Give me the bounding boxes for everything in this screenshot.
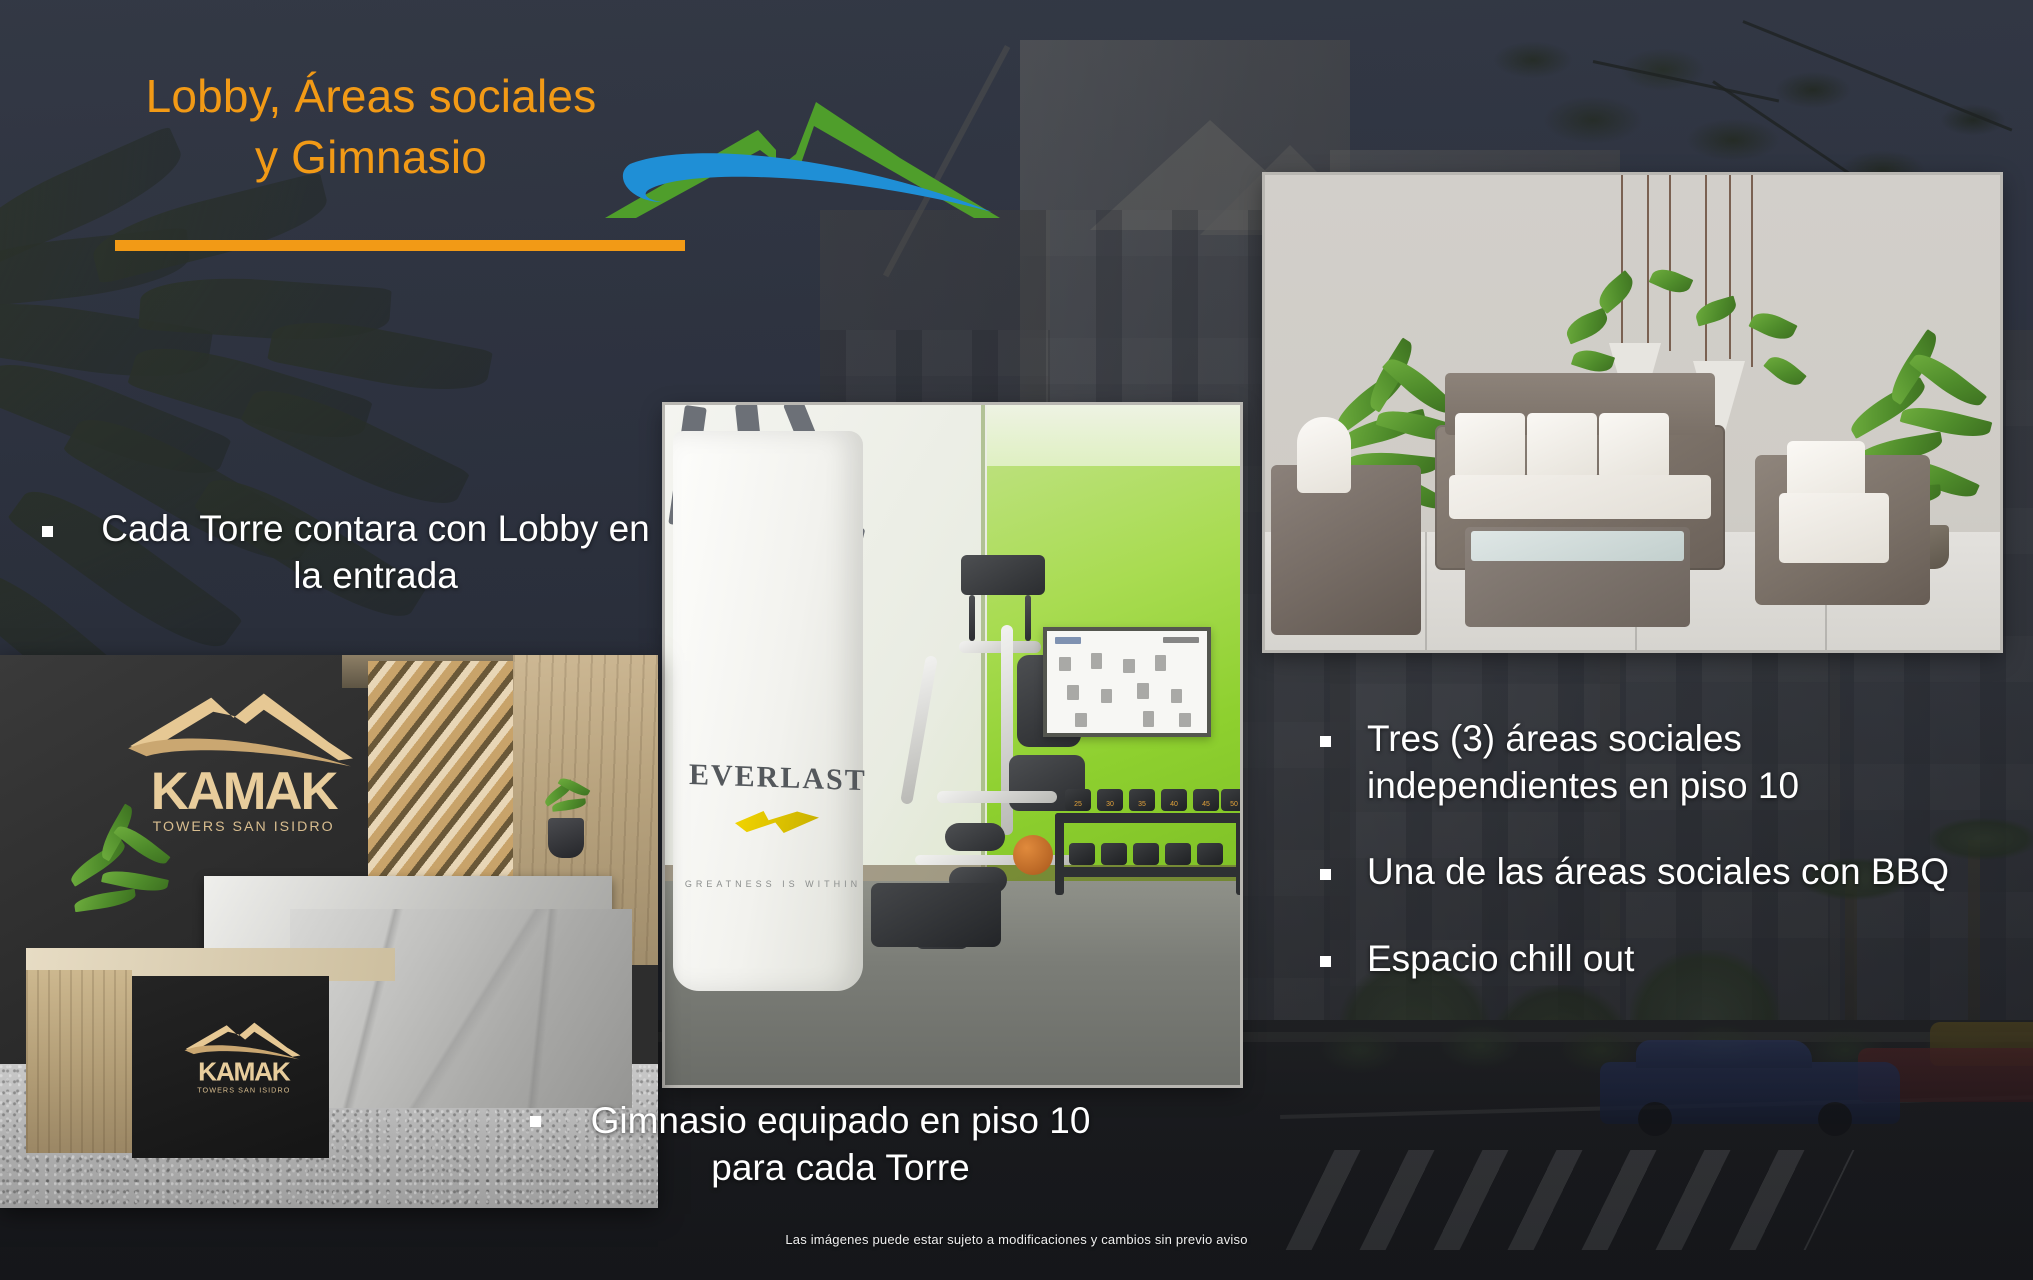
planter-cord [1669, 175, 1671, 351]
poster-figure [1171, 689, 1182, 703]
planter-cord [1647, 175, 1649, 343]
kamak-wall-logo: KAMAK TOWERS SAN ISIDRO [112, 688, 375, 843]
dumbbell: 30 [1097, 789, 1123, 811]
bullet-text: Una de las áreas sociales con BBQ [1367, 849, 1949, 896]
bullet-text: Tres (3) áreas sociales independientes e… [1367, 716, 1980, 809]
glass-tabletop [1471, 531, 1684, 561]
vase [548, 818, 584, 858]
dumbbell-weight: 35 [1129, 801, 1155, 808]
vine-leaf [1593, 270, 1639, 314]
dumbbell-weight: 45 [1193, 801, 1219, 808]
sofa-seat-cushion [1449, 475, 1711, 519]
lounge-coffee-table [1465, 527, 1690, 627]
dumbbell: 25 [1065, 789, 1091, 811]
everlast-brand-text: EVERLAST [689, 758, 859, 798]
machine-cable [1025, 595, 1031, 641]
list-item: Espacio chill out [1320, 936, 1980, 983]
vine-leaf [1748, 306, 1797, 345]
reception-desk-wood-side [26, 970, 131, 1152]
bottom-bullet-list: Gimnasio equipado en piso 10 para cada T… [530, 1098, 1110, 1211]
title-line-1: Lobby, Áreas sociales [66, 66, 676, 127]
dumbbell-weight: 30 [1097, 801, 1123, 808]
plant-leaf [73, 889, 136, 912]
lobby-vase-with-plant [540, 804, 599, 876]
poster-figure [1101, 689, 1112, 703]
vine-leaf [1763, 350, 1806, 391]
poster-logo-right [1163, 637, 1199, 643]
exercise-chart-poster [1043, 627, 1211, 737]
rack-upright [1236, 813, 1240, 895]
list-item: Cada Torre contara con Lobby en la entra… [42, 506, 662, 599]
floor-seam [1425, 532, 1427, 650]
right-bullet-list: Tres (3) áreas sociales independientes e… [1320, 716, 1980, 1002]
sofa-pillow [1527, 413, 1597, 479]
poster-figure [1155, 655, 1166, 671]
armchair-cushion [1779, 493, 1889, 563]
sofa-pillow [1455, 413, 1525, 479]
reception-desk-marble-front [290, 909, 632, 1108]
bullet-square-icon [1320, 956, 1331, 967]
kamak-desk-logo: KAMAK TOWERS SAN ISIDRO [178, 1009, 310, 1109]
lounge-side-chair [1271, 465, 1421, 635]
machine-lat-bar [959, 641, 1041, 653]
planter-cord [1621, 175, 1623, 347]
everlast-logo-icon [735, 811, 819, 833]
logo-svg [600, 92, 1010, 222]
machine-top-frame [961, 555, 1045, 595]
dumbbell: 50 [1221, 789, 1240, 811]
dumbbell: 35 [1129, 789, 1155, 811]
bullet-square-icon [530, 1116, 541, 1127]
dumbbell-weight: 40 [1161, 801, 1187, 808]
bullet-text: Espacio chill out [1367, 936, 1634, 983]
dumbbell [1133, 843, 1159, 865]
lounge-armchair [1755, 455, 1930, 605]
logo-brand-tagline: TOWERS SAN ISIDRO [197, 1085, 290, 1094]
sofa-pillow [1599, 413, 1669, 479]
dumbbell-weight: 25 [1065, 801, 1091, 808]
presentation-slide: Lobby, Áreas sociales y Gimnasio [0, 0, 2033, 1280]
dumbbell-rack: 25 30 35 40 45 50 [1055, 775, 1240, 915]
machine-cable [969, 595, 975, 641]
poster-figure [1091, 653, 1102, 669]
poster-figure [1179, 713, 1191, 727]
lobby-potted-plant [66, 821, 211, 943]
machine-leg-pad [945, 823, 1005, 851]
title-line-2: y Gimnasio [66, 127, 676, 188]
page-title: Lobby, Áreas sociales y Gimnasio [66, 66, 676, 187]
logo-brand-name: KAMAK [198, 1056, 291, 1086]
list-item: Tres (3) áreas sociales independientes e… [1320, 716, 1980, 809]
gym-scene: EVERLAST GREATNESS IS WITHIN [665, 405, 1240, 1085]
everlast-punching-bag: EVERLAST GREATNESS IS WITHIN [673, 431, 863, 991]
poster-figure [1075, 713, 1087, 727]
list-item: Una de las áreas sociales con BBQ [1320, 849, 1980, 896]
bullet-text: Cada Torre contara con Lobby en la entra… [89, 506, 662, 599]
dumbbell [1165, 843, 1191, 865]
poster-figure [1143, 711, 1154, 727]
poster-logo-left [1055, 637, 1081, 644]
machine-leg-bar [937, 791, 1057, 803]
rack-upright [1055, 813, 1064, 895]
kamak-mountain-swoosh-logo [600, 92, 1010, 222]
planter-cord [1751, 175, 1753, 367]
dumbbell [1101, 843, 1127, 865]
vine-leaf [1562, 308, 1611, 345]
vine-leaf [1693, 296, 1739, 327]
rack-shelf [1055, 867, 1240, 877]
logo-brand-name: KAMAK [151, 762, 339, 821]
gym-bench [871, 883, 1001, 947]
poster-figure [1137, 683, 1149, 699]
poster-figure [1123, 659, 1135, 673]
kamak-logo-svg: KAMAK TOWERS SAN ISIDRO [112, 688, 375, 843]
poster-figure [1059, 657, 1071, 671]
kamak-desk-logo-svg: KAMAK TOWERS SAN ISIDRO [178, 1009, 310, 1109]
dumbbell [1197, 843, 1223, 865]
rack-shelf [1055, 813, 1240, 823]
social-area-lounge-image [1265, 175, 2000, 650]
planter-cord [1729, 175, 1731, 359]
poster-figure [1067, 685, 1079, 700]
bullet-square-icon [1320, 869, 1331, 880]
disclaimer-text: Las imágenes puede estar sujeto a modifi… [0, 1232, 2033, 1247]
bullet-text: Gimnasio equipado en piso 10 para cada T… [571, 1098, 1110, 1191]
bullet-square-icon [42, 526, 53, 537]
gym-image: EVERLAST GREATNESS IS WITHIN [665, 405, 1240, 1085]
lounge-scene [1265, 175, 2000, 650]
title-accent-bar [115, 240, 685, 251]
list-item: Gimnasio equipado en piso 10 para cada T… [530, 1098, 1110, 1191]
medicine-ball [1013, 835, 1053, 875]
planter-cord [1705, 175, 1707, 363]
side-chair-pillow [1297, 417, 1351, 493]
vine-leaf [1649, 264, 1694, 299]
bullet-square-icon [1320, 736, 1331, 747]
dumbbell-weight: 50 [1221, 801, 1240, 808]
dumbbell: 40 [1161, 789, 1187, 811]
machine-frame-left [900, 655, 938, 805]
dumbbell [1069, 843, 1095, 865]
everlast-tagline: GREATNESS IS WITHIN [683, 879, 863, 889]
dumbbell: 45 [1193, 789, 1219, 811]
left-bullet-list: Cada Torre contara con Lobby en la entra… [42, 506, 662, 619]
